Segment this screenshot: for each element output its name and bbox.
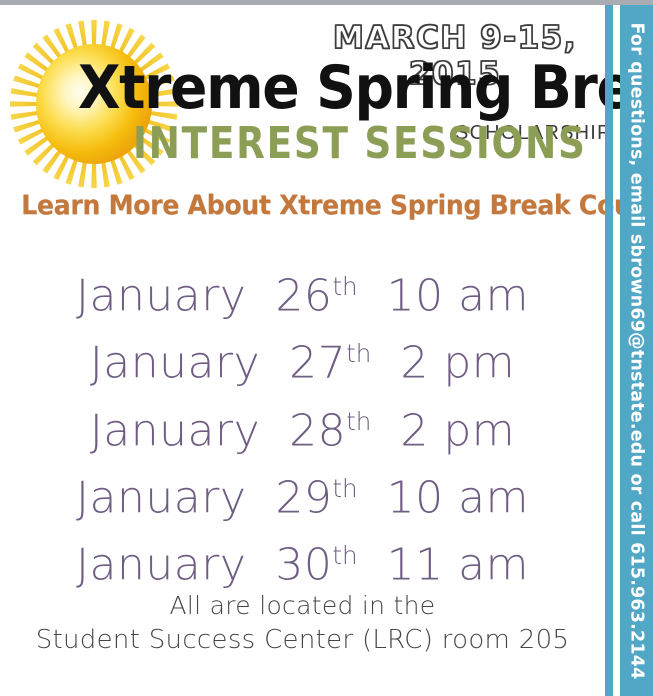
list-item: January 26th 10 am [0, 258, 605, 325]
session-ordinal: th [332, 272, 357, 301]
session-day: 29 [275, 472, 332, 523]
session-time: 2 pm [400, 405, 515, 456]
location-line-2: Student Success Center (LRC) room 205 [0, 623, 605, 658]
session-time: 10 am [387, 472, 529, 523]
list-item: January 27th 2 pm [0, 325, 605, 392]
interest-sessions-label: INTEREST SESSIONS [133, 118, 587, 169]
session-ordinal: th [332, 541, 357, 570]
session-day: 27 [289, 338, 346, 389]
session-day: 28 [289, 405, 346, 456]
location-block: All are located in the Student Success C… [0, 588, 605, 658]
subheading: Learn More About Xtreme Spring Break Cou… [21, 190, 584, 221]
session-month: January [76, 270, 246, 321]
session-time: 2 pm [400, 338, 515, 389]
session-month: January [76, 472, 246, 523]
page-title: Xtreme Spring Break [78, 57, 570, 119]
session-day: 30 [275, 539, 332, 590]
session-list: January 26th 10 am January 27th 2 pm Jan… [0, 258, 605, 594]
poster-header: MARCH 9-15, 2015 Xtreme Spring Break SCH… [0, 0, 610, 185]
session-month: January [76, 539, 246, 590]
session-month: January [90, 405, 260, 456]
list-item: January 30th 11 am [0, 527, 605, 594]
location-line-1: All are located in the [0, 588, 605, 623]
session-month: January [90, 338, 260, 389]
session-day: 26 [275, 270, 332, 321]
teal-accent-bar-thin [605, 5, 613, 696]
contact-strip: For questions, email sbrown69@tnstate.ed… [620, 5, 653, 696]
poster-canvas: MARCH 9-15, 2015 Xtreme Spring Break SCH… [0, 0, 653, 696]
list-item: January 28th 2 pm [0, 393, 605, 460]
contact-text: For questions, email sbrown69@tnstate.ed… [627, 22, 647, 679]
session-time: 10 am [387, 270, 529, 321]
list-item: January 29th 10 am [0, 460, 605, 527]
session-ordinal: th [346, 407, 371, 436]
session-ordinal: th [332, 474, 357, 503]
session-ordinal: th [346, 339, 371, 368]
session-time: 11 am [387, 539, 529, 590]
